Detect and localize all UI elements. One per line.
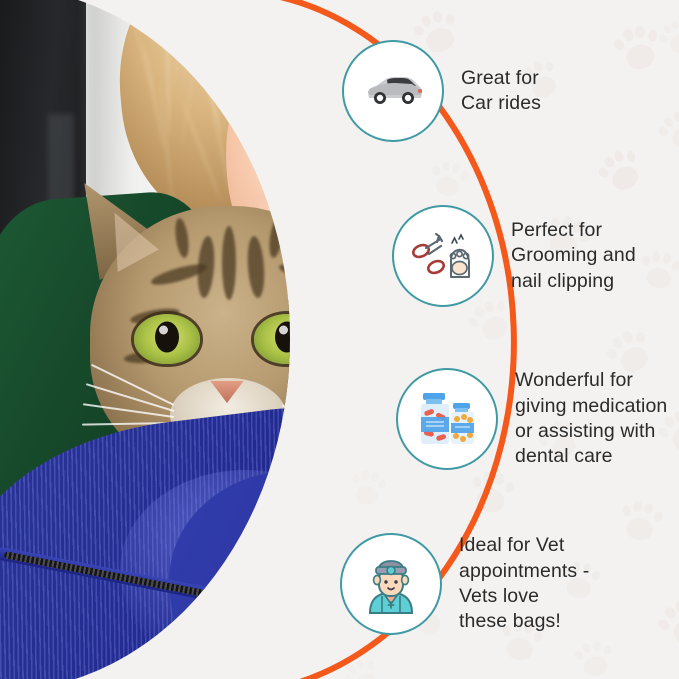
nail-clippers-paw-icon <box>392 205 494 307</box>
feature-label: Perfect for Grooming and nail clipping <box>511 218 636 294</box>
cat-eye-right <box>254 314 320 364</box>
feature-label: Wonderful for giving medication or assis… <box>515 368 667 469</box>
medication-bottles-icon <box>396 368 498 470</box>
feature-item-grooming: Perfect for Grooming and nail clipping <box>392 205 636 307</box>
feature-item-medication: Wonderful for giving medication or assis… <box>396 368 667 470</box>
car-icon <box>342 40 444 142</box>
feature-item-vet: Ideal for Vet appointments - Vets love t… <box>340 533 589 635</box>
feature-item-car-rides: Great for Car rides <box>342 40 541 142</box>
cat-eye-left <box>134 314 200 364</box>
product-feature-graphic: Great for Car rides <box>0 0 679 679</box>
feature-label: Great for Car rides <box>461 66 541 117</box>
feature-list: Great for Car rides <box>330 0 679 679</box>
veterinarian-icon <box>340 533 442 635</box>
feature-label: Ideal for Vet appointments - Vets love t… <box>459 533 589 634</box>
